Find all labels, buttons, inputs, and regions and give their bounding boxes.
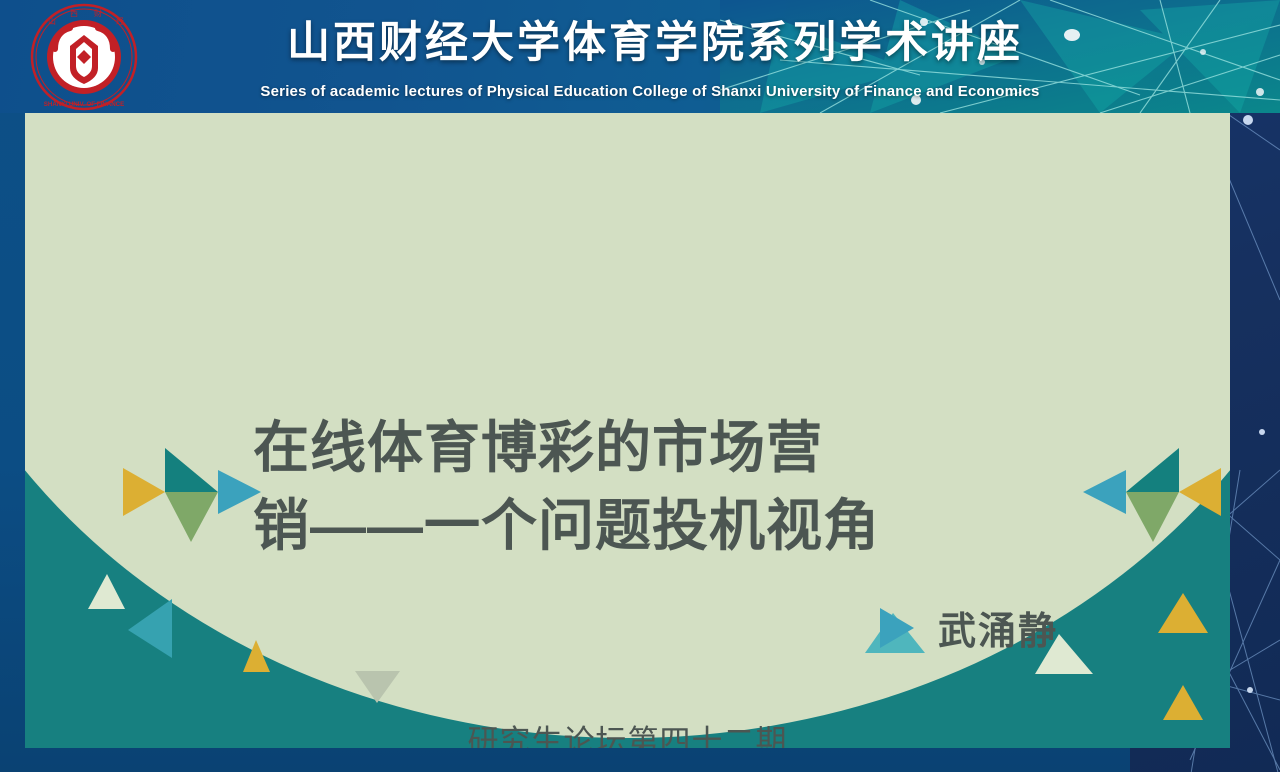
triangle-arrow-cluster-right [1083, 446, 1223, 546]
svg-text:经: 经 [116, 16, 124, 26]
triangle-arrow-cluster-left [123, 446, 263, 546]
triangle-green-right [1126, 492, 1179, 542]
triangle-teal-left [165, 448, 218, 492]
presentation-slide: 在线体育博彩的市场营 销——一个问题投机视角 武涌静 研究生论坛第四十二期 20… [25, 113, 1230, 748]
svg-text:山: 山 [48, 16, 56, 26]
triangle-cyan-right [1083, 470, 1126, 514]
svg-text:西: 西 [70, 9, 78, 18]
forum-label: 研究生论坛第四十二期 [25, 721, 1230, 748]
banner-subtitle-en: Series of academic lectures of Physical … [150, 82, 1150, 102]
banner-title-cn: 山西财经大学体育学院系列学术讲座 [175, 17, 1135, 69]
university-logo: SHANXI UNIV. OF FINANCE 山西 财经 [8, 2, 160, 112]
play-triangle-icon [880, 608, 914, 648]
svg-text:SHANXI UNIV. OF FINANCE: SHANXI UNIV. OF FINANCE [44, 101, 125, 108]
lecture-series-banner: SHANXI UNIV. OF FINANCE 山西 财经 山西财经大学体育学院… [0, 0, 1280, 113]
triangle-teal-right [1126, 448, 1179, 492]
triangle-gold-left [123, 468, 165, 516]
slide-title-line-1: 在线体育博彩的市场营 [253, 409, 1013, 487]
triangle-gold-right [1179, 468, 1221, 516]
triangle-green-left [165, 492, 218, 542]
svg-text:财: 财 [94, 8, 102, 18]
slide-footer: 研究生论坛第四十二期 2022年7月14日 [25, 721, 1230, 748]
slide-title-line-2: 销——一个问题投机视角 [253, 487, 1013, 565]
speaker-row: 武涌静 [880, 600, 1058, 655]
speaker-name: 武涌静 [938, 600, 1058, 655]
slide-title: 在线体育博彩的市场营 销——一个问题投机视角 [253, 409, 1013, 565]
